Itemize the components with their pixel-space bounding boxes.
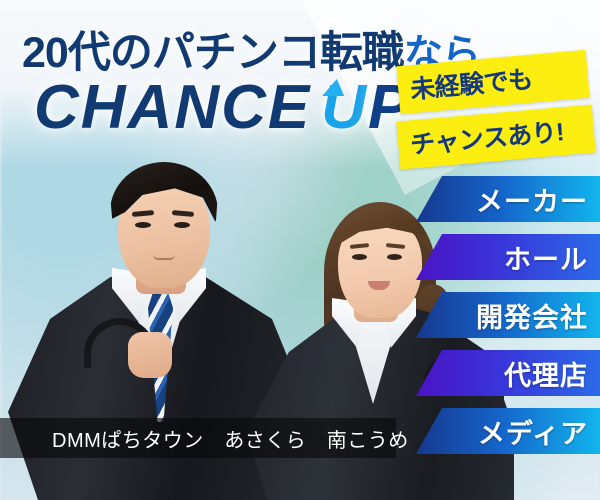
hand-man	[128, 332, 172, 378]
promo-banner[interactable]: 20代のパチンコ転職なら CHANCEUP 未経験でも チャンスあり! メーカー…	[0, 0, 600, 500]
category-button-media[interactable]: メディア	[416, 408, 600, 454]
category-label-media: メディア	[478, 412, 588, 451]
badge-line-1: 未経験でも	[396, 50, 589, 114]
highlight-badge: 未経験でも チャンスあり!	[398, 58, 594, 161]
eye-right-woman	[387, 254, 402, 260]
eye-left-woman	[352, 254, 367, 260]
logo-word-chance: CHANCE	[34, 73, 311, 142]
eye-right-man	[174, 222, 190, 228]
category-button-developer[interactable]: 開発会社	[416, 292, 600, 338]
category-label-hall: ホール	[504, 238, 588, 277]
caption-text: DMMぱちタウン あさくら 南こうめ	[52, 424, 409, 453]
badge-line-2: チャンスあり!	[396, 105, 595, 170]
up-arrow-icon	[322, 79, 348, 96]
category-label-maker: メーカー	[476, 180, 588, 219]
category-button-agency[interactable]: 代理店	[416, 350, 600, 396]
logo-wordmark: CHANCEUP	[34, 72, 411, 143]
category-menu[interactable]: メーカー ホール 開発会社 代理店 メディア	[416, 176, 600, 466]
category-button-maker[interactable]: メーカー	[416, 176, 600, 222]
category-label-agency: 代理店	[504, 354, 588, 393]
eye-left-man	[135, 222, 151, 228]
category-button-hall[interactable]: ホール	[416, 234, 600, 280]
headline-main: 20代のパチンコ転職	[22, 29, 404, 77]
mouth-man	[153, 255, 175, 260]
caption-bar: DMMぱちタウン あさくら 南こうめ	[0, 418, 396, 458]
category-label-developer: 開発会社	[476, 296, 588, 335]
